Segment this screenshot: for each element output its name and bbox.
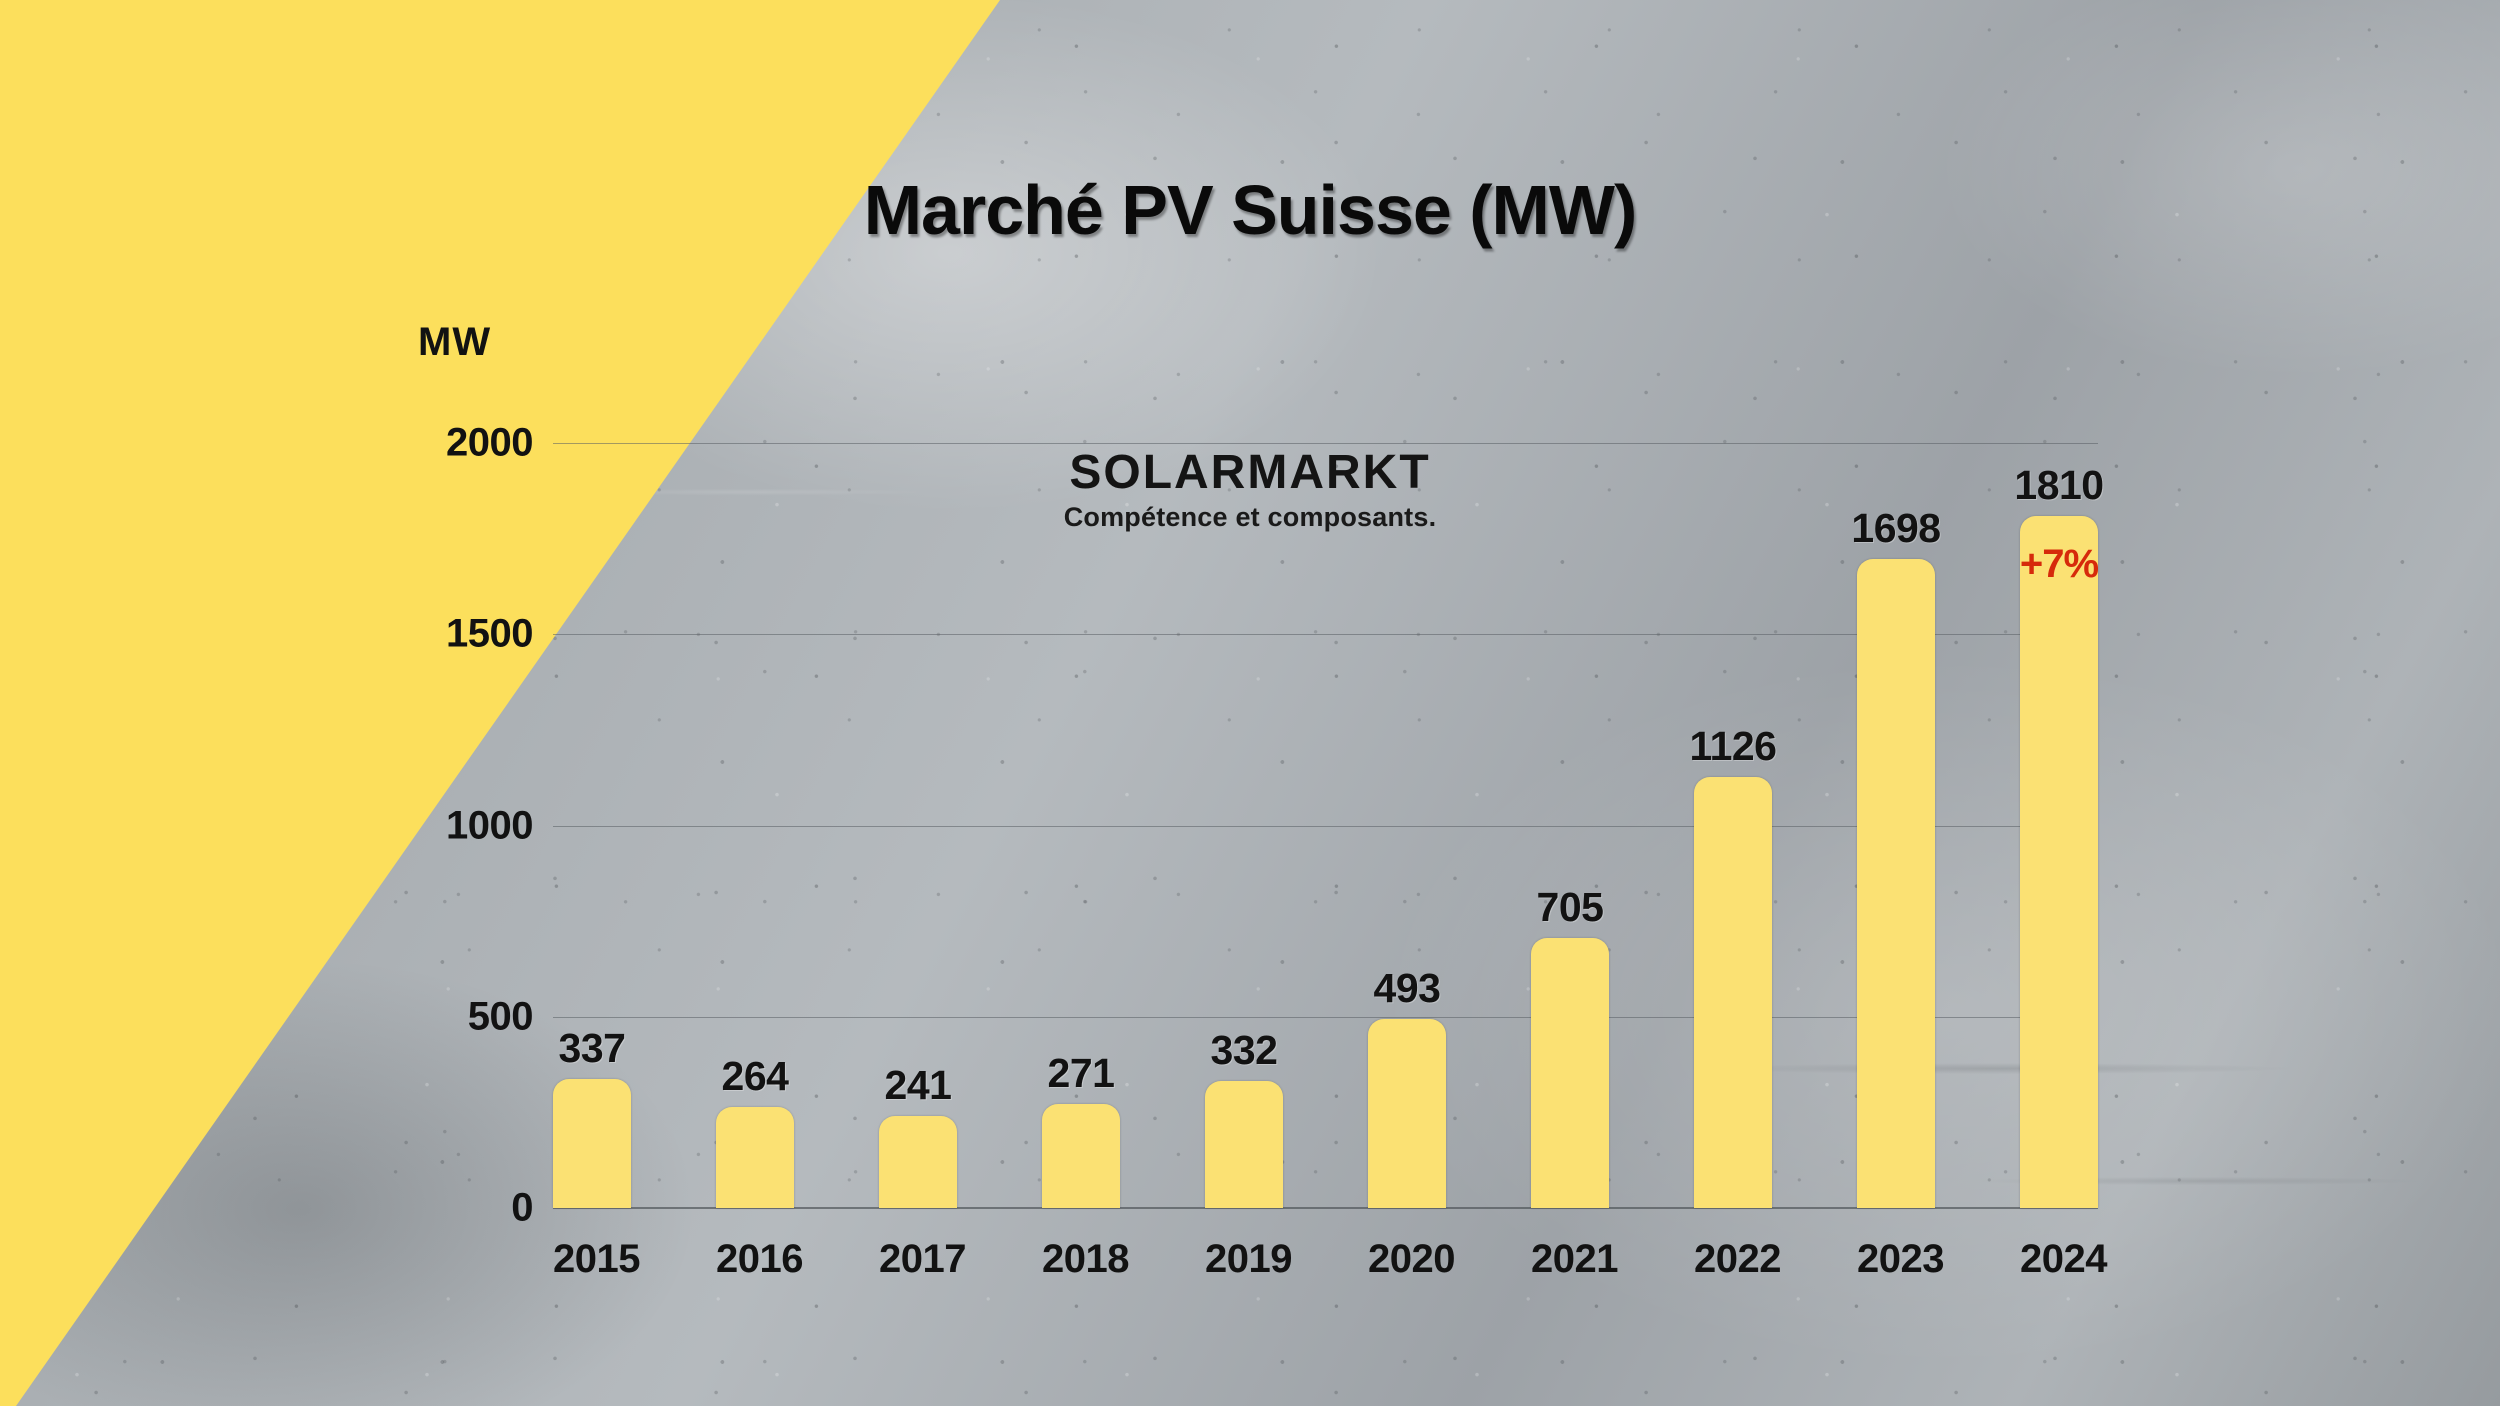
bar-growth-annotation: +7% xyxy=(2020,542,2098,587)
bar-slot: 1698 xyxy=(1857,443,1935,1208)
x-tick-label-2018: 2018 xyxy=(1042,1237,1120,1282)
bar-value-label: 1810 xyxy=(2014,462,2103,509)
bar-2015[interactable]: 337 xyxy=(553,1079,631,1208)
bar-value-label: 705 xyxy=(1537,884,1604,931)
x-tick-label-2024: 2024 xyxy=(2020,1237,2098,1282)
x-axis-tick-labels: 2015201620172018201920202021202220232024 xyxy=(553,1237,2098,1282)
bar-2023[interactable]: 1698 xyxy=(1857,559,1935,1208)
bar-slot: 1810+7% xyxy=(2020,443,2098,1208)
x-tick-label-2022: 2022 xyxy=(1694,1237,1772,1282)
bar-2022[interactable]: 1126 xyxy=(1694,777,1772,1208)
bar-2017[interactable]: 241 xyxy=(879,1116,957,1208)
bar-2020[interactable]: 493 xyxy=(1368,1019,1446,1208)
bar-slot: 264 xyxy=(716,443,794,1208)
bar-2019[interactable]: 332 xyxy=(1205,1081,1283,1208)
y-tick-label-1500: 1500 xyxy=(446,612,533,657)
x-tick-label-2019: 2019 xyxy=(1205,1237,1283,1282)
bar-value-label: 1126 xyxy=(1690,723,1777,770)
bar-2018[interactable]: 271 xyxy=(1042,1104,1120,1208)
bar-value-label: 241 xyxy=(885,1062,952,1109)
x-tick-label-2021: 2021 xyxy=(1531,1237,1609,1282)
x-tick-label-2015: 2015 xyxy=(553,1237,631,1282)
bar-slot: 1126 xyxy=(1694,443,1772,1208)
chart-canvas: Marché PV Suisse (MW) SOLARMARKT Compéte… xyxy=(0,0,2500,1406)
bar-slot: 705 xyxy=(1531,443,1609,1208)
bar-slot: 337 xyxy=(553,443,631,1208)
x-tick-label-2023: 2023 xyxy=(1857,1237,1935,1282)
x-tick-label-2017: 2017 xyxy=(879,1237,957,1282)
bar-value-label: 332 xyxy=(1211,1027,1278,1074)
bar-2024[interactable]: 1810+7% xyxy=(2020,516,2098,1208)
bar-slot: 332 xyxy=(1205,443,1283,1208)
bar-slot: 271 xyxy=(1042,443,1120,1208)
y-tick-label-2000: 2000 xyxy=(446,421,533,466)
bar-value-label: 1698 xyxy=(1851,505,1940,552)
bar-series: 337264241271332493705112616981810+7% xyxy=(553,443,2098,1208)
bar-value-label: 264 xyxy=(722,1053,789,1100)
bar-value-label: 493 xyxy=(1374,965,1441,1012)
bar-value-label: 337 xyxy=(559,1025,626,1072)
bar-2016[interactable]: 264 xyxy=(716,1107,794,1208)
bar-value-label: 271 xyxy=(1048,1050,1115,1097)
y-tick-label-1000: 1000 xyxy=(446,803,533,848)
plot-area: 337264241271332493705112616981810+7% xyxy=(553,443,2098,1208)
y-tick-label-0: 0 xyxy=(511,1186,533,1231)
chart-title: Marché PV Suisse (MW) xyxy=(0,170,2500,250)
bar-2021[interactable]: 705 xyxy=(1531,938,1609,1208)
x-tick-label-2020: 2020 xyxy=(1368,1237,1446,1282)
y-axis-unit-label: MW xyxy=(418,320,491,365)
y-tick-label-500: 500 xyxy=(468,994,533,1039)
x-tick-label-2016: 2016 xyxy=(716,1237,794,1282)
bar-slot: 493 xyxy=(1368,443,1446,1208)
bar-slot: 241 xyxy=(879,443,957,1208)
